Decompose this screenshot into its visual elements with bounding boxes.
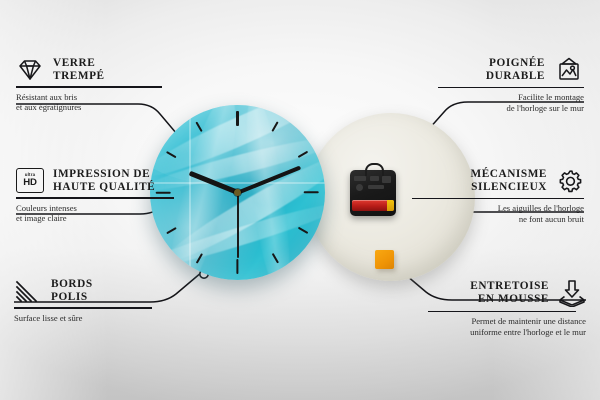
feature-subtitle-line2: de l'horloge sur le mur: [424, 103, 584, 113]
feature-subtitle-line1: Permet de maintenir une distance: [438, 316, 586, 326]
feature-divider: [438, 87, 584, 88]
gear-icon: [556, 168, 584, 194]
feature-title: IMPRESSION DE HAUTE QUALITÉ: [53, 168, 155, 193]
infographic-canvas: VERRE TREMPÉ Résistant aux bris et aux é…: [0, 0, 600, 400]
feature-entretoise-en-mousse[interactable]: ENTRETOISE EN MOUSSE Permet de maintenir…: [438, 279, 586, 337]
battery-terminal: [387, 200, 394, 211]
feature-divider: [16, 86, 162, 87]
feature-header: VERRE TREMPÉ: [16, 57, 176, 82]
feature-subtitle-line1: Surface lisse et sûre: [14, 313, 166, 323]
feature-divider: [428, 311, 576, 312]
feature-subtitle-line1: Les aiguilles de l'horloge: [412, 203, 584, 213]
foam-spacer-icon: [558, 279, 586, 307]
feature-poignee-durable[interactable]: POIGNÉE DURABLE Facilite le montage de l…: [424, 57, 584, 113]
feature-title: MÉCANISME SILENCIEUX: [471, 168, 548, 193]
tick-mark: [298, 227, 309, 235]
feature-bords-polis[interactable]: BORDS POLIS Surface lisse et sûre: [14, 278, 166, 323]
feature-divider: [16, 197, 174, 198]
ultra-hd-icon: ultra HD: [16, 168, 44, 193]
picture-hanger-icon: [554, 57, 584, 83]
feature-title: ENTRETOISE EN MOUSSE: [470, 280, 549, 305]
feature-header: BORDS POLIS: [14, 278, 166, 303]
mechanism-surface-detail: [354, 176, 392, 192]
feature-divider: [412, 198, 584, 199]
feature-verre-trempe[interactable]: VERRE TREMPÉ Résistant aux bris et aux é…: [16, 57, 176, 112]
feature-subtitle-line1: Résistant aux bris: [16, 92, 176, 102]
feature-impression-haute-qualite[interactable]: ultra HD IMPRESSION DE HAUTE QUALITÉ Cou…: [16, 168, 188, 223]
feature-header: ENTRETOISE EN MOUSSE: [438, 279, 586, 307]
feature-subtitle-line2: et image claire: [16, 213, 188, 223]
feature-title: POIGNÉE DURABLE: [486, 57, 545, 82]
clock-hand-hub: [234, 189, 241, 196]
feature-header: ultra HD IMPRESSION DE HAUTE QUALITÉ: [16, 168, 188, 193]
foam-spacer-pad: [375, 250, 394, 269]
feature-title: BORDS POLIS: [51, 278, 93, 303]
tick-mark: [304, 191, 319, 193]
diamond-icon: [16, 58, 44, 82]
mechanism-hanger-loop: [365, 163, 384, 176]
polished-edge-icon: [14, 279, 42, 303]
feature-subtitle-line1: Couleurs intenses: [16, 203, 188, 213]
feature-divider: [14, 307, 152, 308]
tick-mark: [236, 259, 238, 274]
feature-subtitle-line2: uniforme entre l'horloge et le mur: [438, 327, 586, 337]
clock-hand-second: [237, 193, 239, 259]
feature-header: MÉCANISME SILENCIEUX: [412, 168, 584, 194]
feature-mecanisme-silencieux[interactable]: MÉCANISME SILENCIEUX Les aiguilles de l'…: [412, 168, 584, 224]
ultra-hd-icon-main-text: HD: [23, 178, 36, 188]
feature-header: POIGNÉE DURABLE: [424, 57, 584, 83]
feature-subtitle-line2: et aux égratignures: [16, 102, 176, 112]
feature-subtitle-line2: ne font aucun bruit: [412, 214, 584, 224]
feature-subtitle-line1: Facilite le montage: [424, 92, 584, 102]
feature-title: VERRE TREMPÉ: [53, 57, 105, 82]
